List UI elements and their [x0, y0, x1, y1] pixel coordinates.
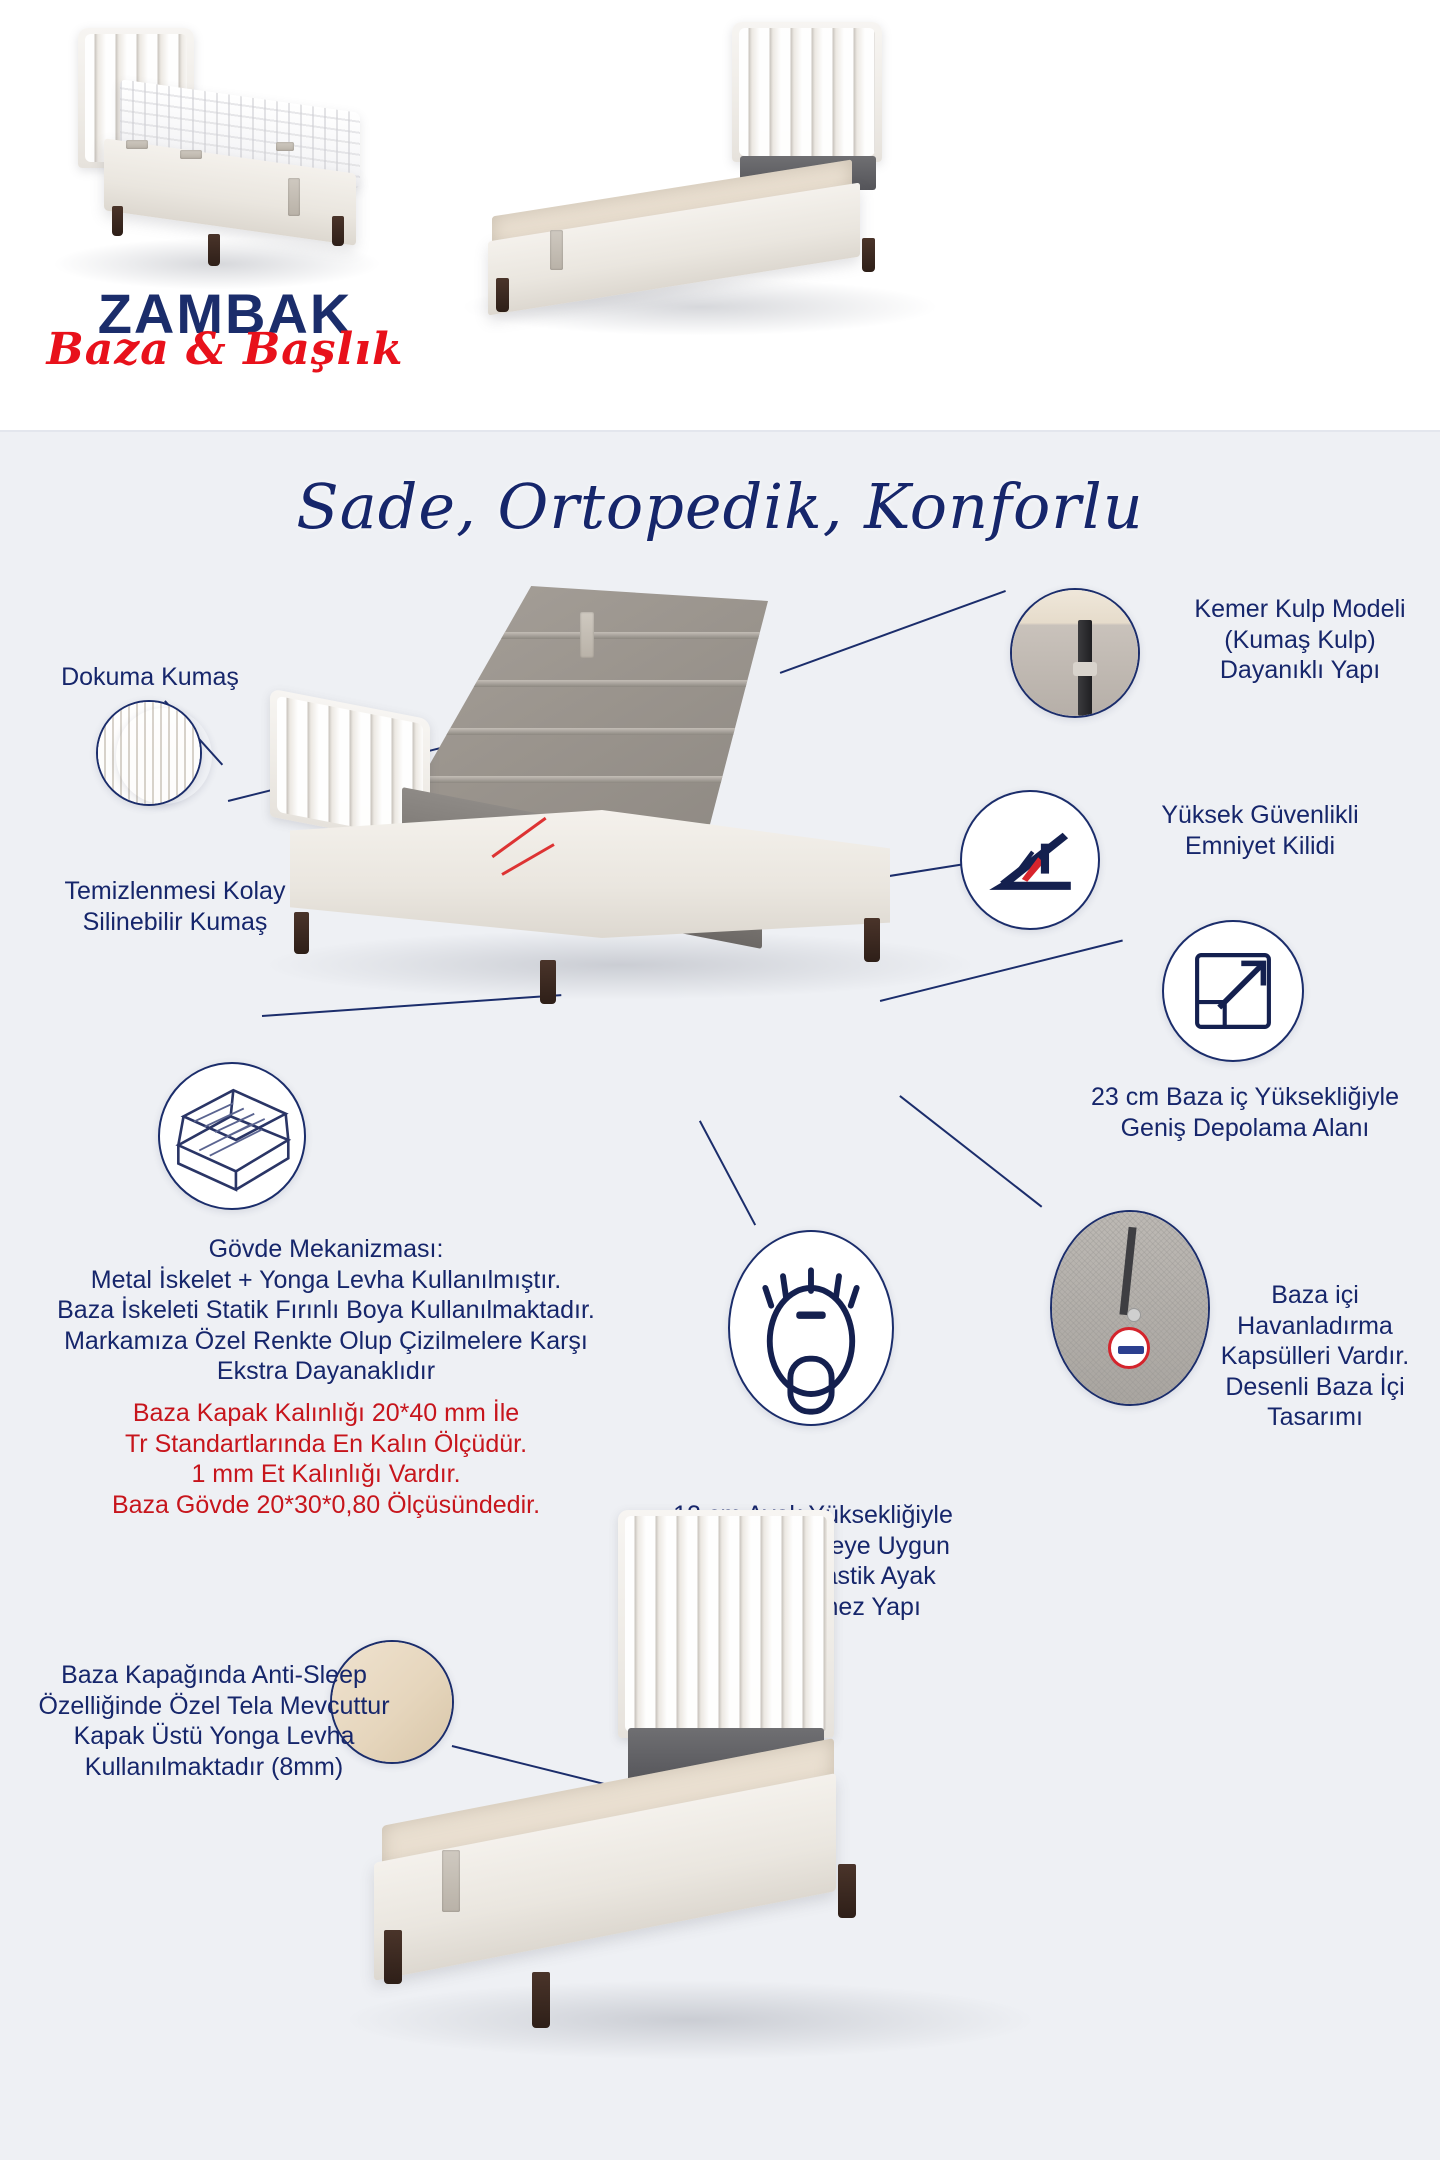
callout-anti-sleep: Baza Kapağında Anti-Sleep Özelliğinde Öz… — [14, 1660, 414, 1782]
callout-emniyet-kilidi: Yüksek Güvenlikli Emniyet Kilidi — [1110, 800, 1410, 861]
belt-handle-icon — [1012, 590, 1138, 716]
infographic-page: ZAMBAK Baza & Başlık Sade, Ortopedik, Ko… — [0, 0, 1440, 2160]
callout-temizlenmesi-kolay: Temizlenmesi Kolay Silinebilir Kumaş — [30, 876, 320, 937]
bubble-silinebilir-kumas — [116, 708, 212, 804]
main-open-storage-base — [250, 600, 980, 1020]
storage-arrow-icon — [1164, 922, 1302, 1060]
page-title: Sade, Ortopedik, Konforlu — [0, 470, 1440, 543]
hero-bed-with-mattress — [60, 28, 360, 290]
ventilation-capsule-icon — [1052, 1212, 1208, 1404]
bubble-emniyet-kilidi — [960, 790, 1100, 930]
bubble-kemer-kulp — [1010, 588, 1140, 718]
callout-govde-olculeri: Baza Kapak Kalınlığı 20*40 mm İle Tr Sta… — [14, 1398, 638, 1520]
bubble-havalandirma-kapsulu — [1050, 1210, 1210, 1406]
bubble-depolama-alani — [1162, 920, 1304, 1062]
bottom-fabric-handle — [442, 1850, 460, 1912]
callout-havalandirma: Baza içi Havanladırma Kapsülleri Vardır.… — [1190, 1280, 1440, 1433]
callout-govde-mekanizmasi: Gövde Mekanizması: Metal İskelet + Yonga… — [14, 1234, 638, 1387]
body-mechanism-icon — [160, 1064, 304, 1208]
brand-logo: ZAMBAK Baza & Başlık — [30, 286, 420, 372]
hero-section: ZAMBAK Baza & Başlık — [0, 0, 1440, 432]
main-base-body — [290, 810, 890, 938]
bubble-govde-mekanizmasi — [158, 1062, 306, 1210]
callout-kemer-kulp: Kemer Kulp Modeli (Kumaş Kulp) Dayanıklı… — [1150, 594, 1440, 686]
bubble-robot-supurge — [728, 1230, 894, 1426]
brand-tagline: Baza & Başlık — [30, 328, 420, 372]
robot-vacuum-icon — [730, 1232, 892, 1423]
callout-depolama-alani: 23 cm Baza iç Yüksekliğiyle Geniş Depola… — [1050, 1082, 1440, 1143]
bottom-closed-storage-base — [360, 1510, 1000, 2070]
hero-base-with-headboard — [470, 16, 940, 336]
callout-dokuma-kumas: Dokuma Kumaş — [40, 662, 260, 693]
safety-lock-icon — [962, 792, 1098, 928]
bottom-headboard — [618, 1510, 834, 1738]
